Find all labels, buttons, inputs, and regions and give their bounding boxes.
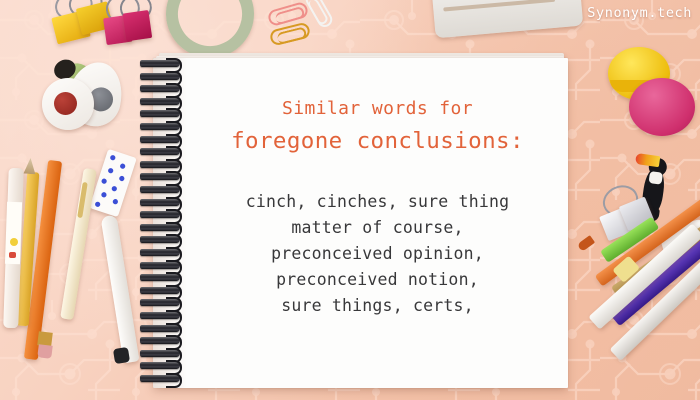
spiral-ring [140, 85, 180, 92]
screenshot-stage: Similar words for foregone conclusions: … [0, 0, 700, 400]
spiral-ring [140, 262, 180, 269]
card-content: Similar words for foregone conclusions: … [187, 58, 568, 388]
spiral-ring [140, 173, 180, 180]
pencil-orange-eraser [37, 344, 52, 359]
spiral-ring [140, 312, 180, 319]
spiral-ring [140, 199, 180, 206]
synonym-line: preconceived opinion, [187, 241, 568, 267]
synonym-line: matter of course, [187, 215, 568, 241]
spiral-ring [140, 325, 180, 332]
spiral-ring [140, 186, 180, 193]
spiral-ring [140, 249, 180, 256]
highlighter-dot-red [9, 252, 16, 258]
spiral-ring [140, 274, 180, 281]
eraser-white-red-icon [42, 78, 94, 130]
highlighter-dot-yellow [10, 238, 18, 246]
spiral-ring [140, 337, 180, 344]
binder-clip-pink-icon [101, 0, 168, 48]
spiral-ring [140, 211, 180, 218]
spiral-ring [140, 236, 180, 243]
spiral-ring [140, 287, 180, 294]
brand-logo: Synonym.tech [587, 5, 692, 21]
synonym-line: sure things, certs, [187, 293, 568, 319]
heading-line-2: foregone conclusions: [187, 127, 568, 155]
spiral-ring [140, 73, 180, 80]
spiral-ring [140, 299, 180, 306]
spiral-ring [140, 98, 180, 105]
spiral-ring [140, 161, 180, 168]
spiral-ring [140, 110, 180, 117]
spiral-ring [140, 350, 180, 357]
spiral-binding [140, 56, 186, 390]
synonym-list: cinch, cinches, sure thing matter of cou… [187, 189, 568, 319]
heading-line-1: Similar words for [187, 98, 568, 121]
spiral-ring [140, 224, 180, 231]
spiral-ring [140, 375, 180, 382]
spiral-ring [140, 123, 180, 130]
spiral-ring [140, 136, 180, 143]
spiral-ring [140, 362, 180, 369]
synonym-line: preconceived notion, [187, 267, 568, 293]
pen-white-stylus-tip [113, 347, 130, 364]
spiral-ring [140, 148, 180, 155]
notebook: Similar words for foregone conclusions: … [153, 58, 568, 388]
synonym-line: cinch, cinches, sure thing [187, 189, 568, 215]
macaron-pink-icon [629, 78, 695, 136]
notebook-page: Similar words for foregone conclusions: … [153, 58, 568, 388]
spiral-ring [140, 60, 180, 67]
